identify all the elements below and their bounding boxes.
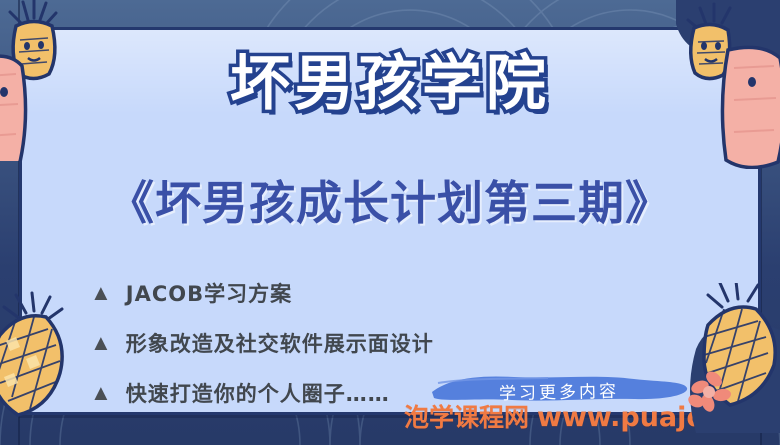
list-item-label: 快速打造你的个人圈子…… [126, 384, 390, 405]
triangle-bullet-icon: ▲ [90, 332, 112, 354]
course-poster: 坏男孩学院 《坏男孩成长计划第三期》 ▲ JACOB学习方案 ▲ 形象改造及社交… [0, 0, 780, 445]
frame-seam-left [18, 0, 20, 445]
list-item: ▲ 快速打造你的个人圈子…… [90, 383, 434, 405]
triangle-bullet-icon: ▲ [90, 382, 112, 404]
frame-seam-right [760, 0, 762, 445]
poster-subtitle: 《坏男孩成长计划第三期》 [22, 180, 758, 226]
list-item-label: JACOB学习方案 [126, 284, 292, 305]
feature-list: ▲ JACOB学习方案 ▲ 形象改造及社交软件展示面设计 ▲ 快速打造你的个人圈… [90, 283, 434, 405]
list-item: ▲ JACOB学习方案 [90, 283, 434, 305]
list-item-label: 形象改造及社交软件展示面设计 [126, 334, 434, 355]
triangle-bullet-icon: ▲ [90, 282, 112, 304]
watermark-site-name: 泡学课程网 [404, 398, 529, 434]
watermark: 泡学课程网 www.puajd.com [404, 398, 779, 434]
list-item: ▲ 形象改造及社交软件展示面设计 [90, 333, 434, 355]
page-title: 坏男孩学院 [22, 54, 758, 114]
poster-card: 坏男孩学院 《坏男孩成长计划第三期》 ▲ JACOB学习方案 ▲ 形象改造及社交… [22, 30, 758, 412]
watermark-url: www.puajd.com [537, 402, 779, 433]
